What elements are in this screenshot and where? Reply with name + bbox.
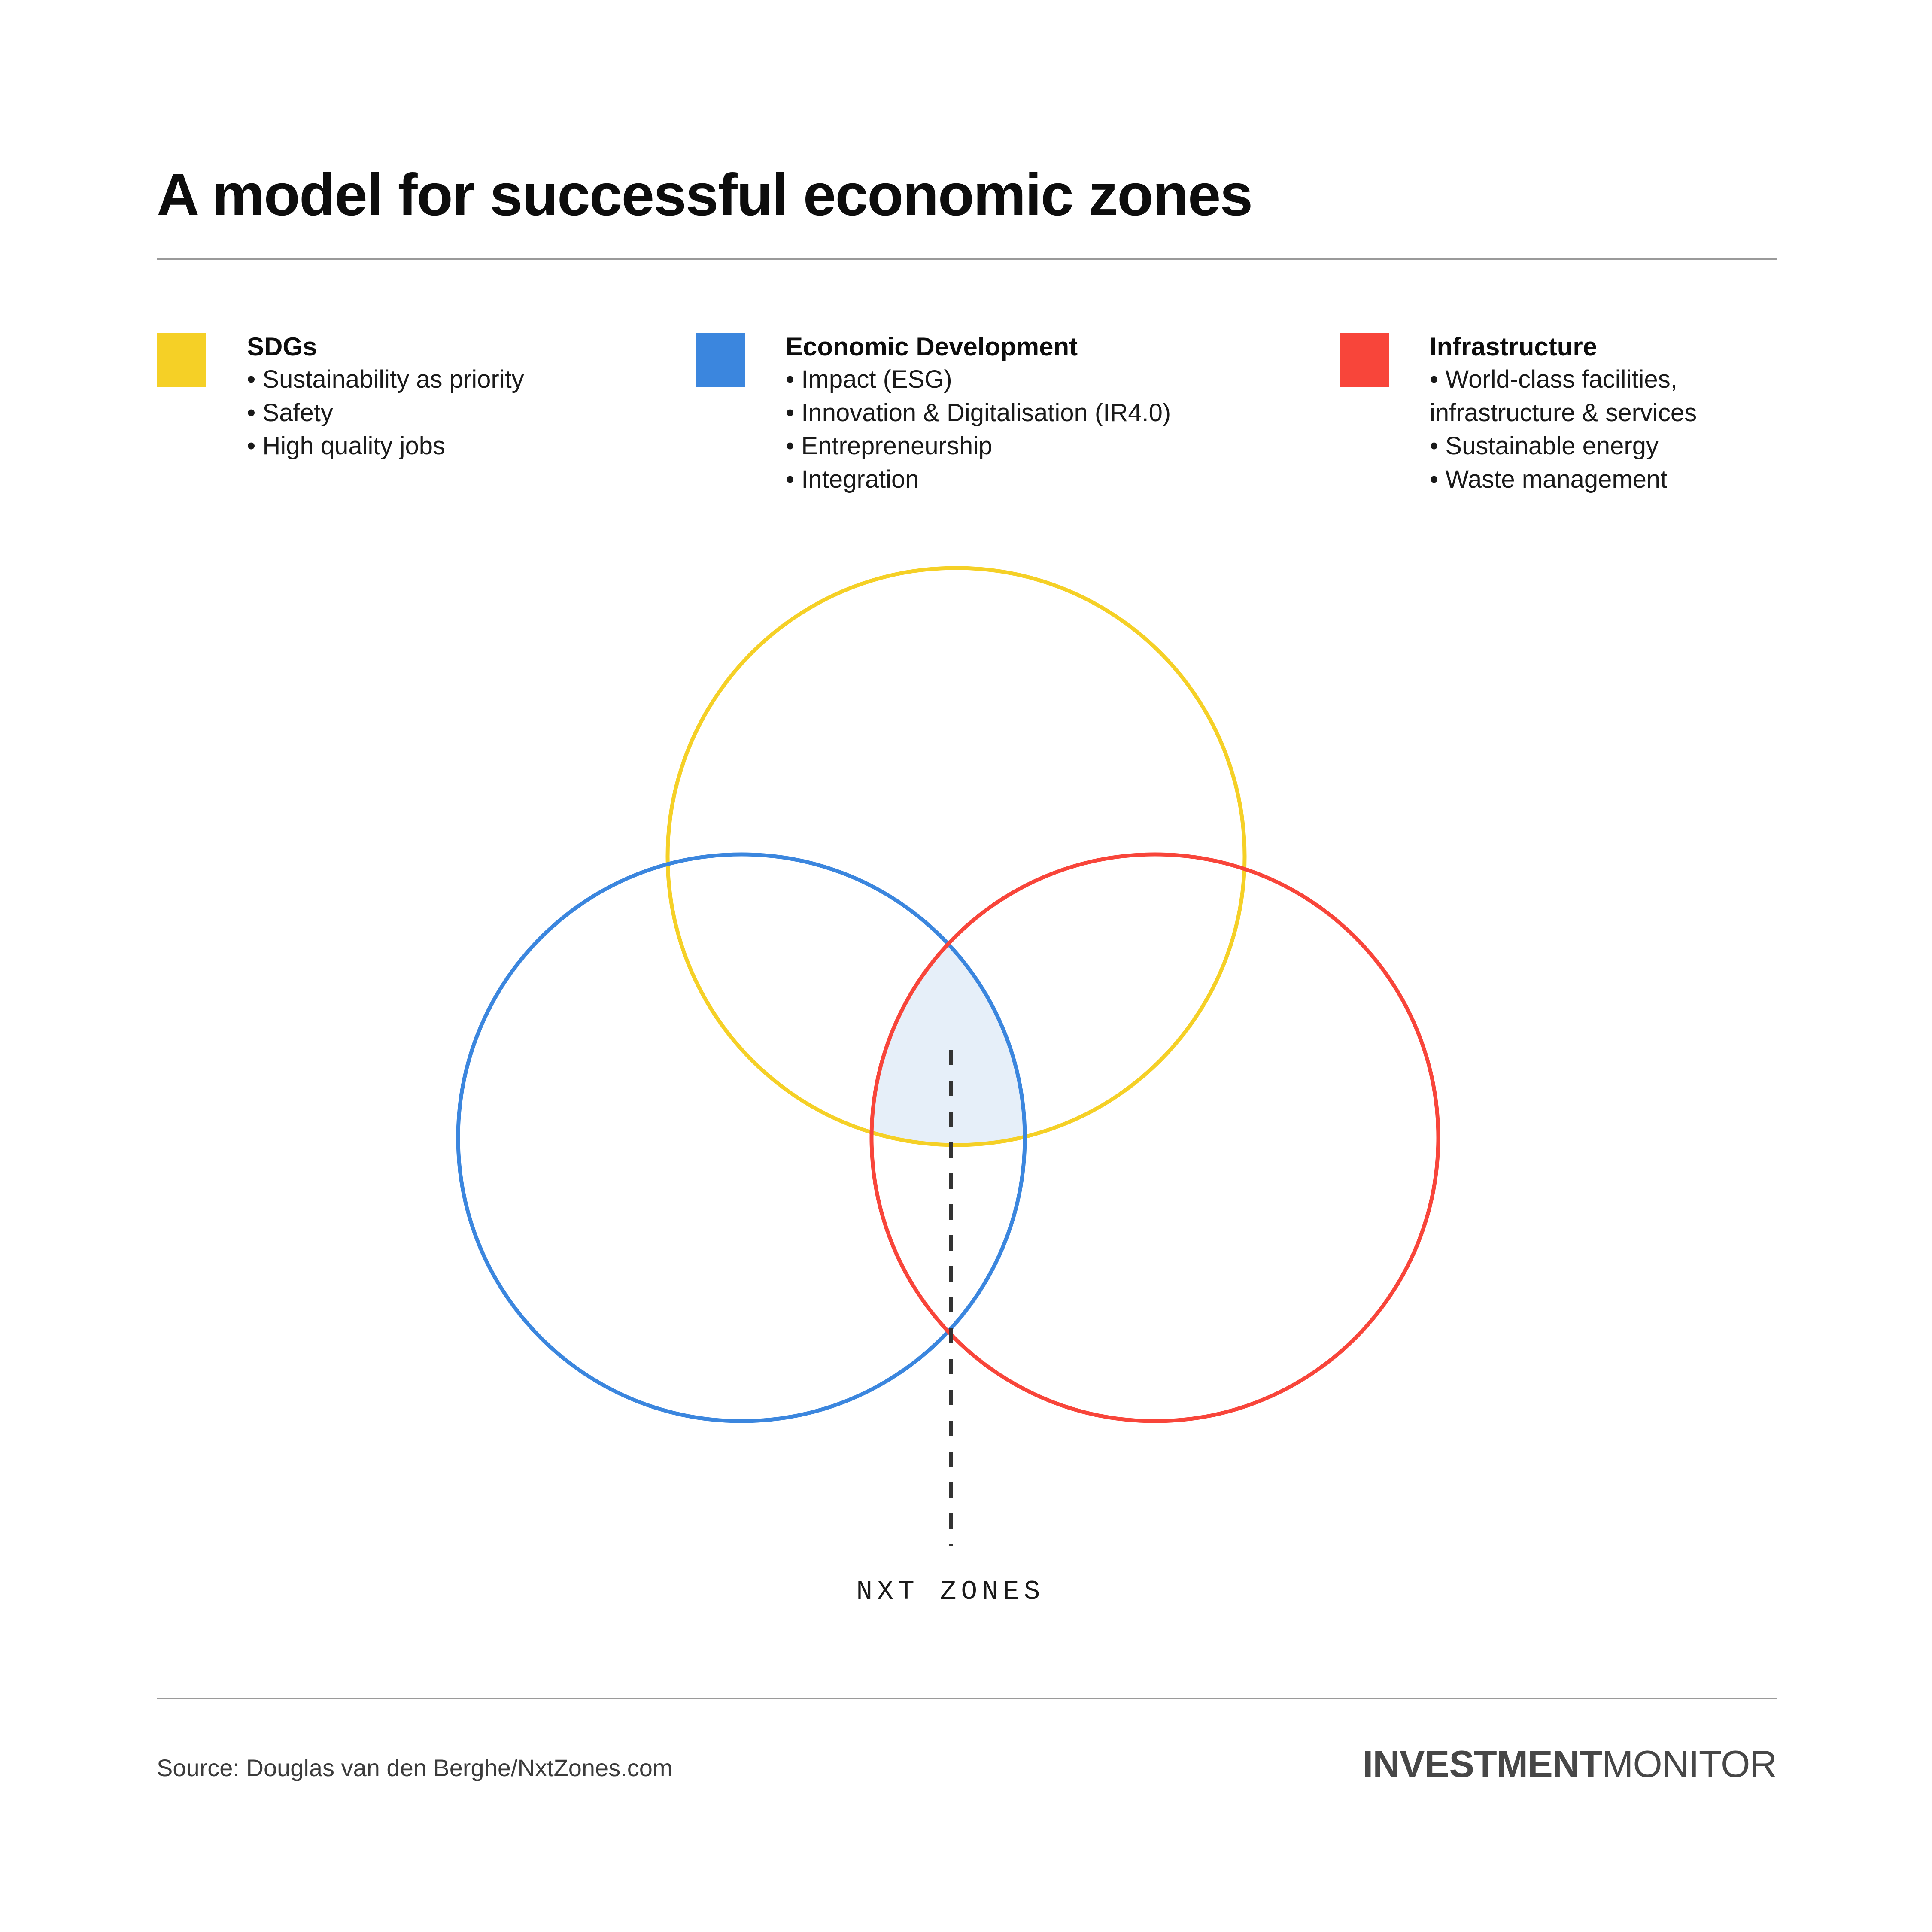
brand-logo-investment: INVESTMENT xyxy=(1363,1743,1602,1785)
list-item: Impact (ESG) xyxy=(786,363,1171,396)
list-item: Safety xyxy=(247,396,524,430)
venn-circle-sdgs xyxy=(668,568,1245,1145)
legend-text-economic-development: Economic Development Impact (ESG) Innova… xyxy=(786,331,1171,496)
venn-svg xyxy=(0,0,1932,1932)
list-item: Waste management xyxy=(1430,463,1756,496)
brand-logo-monitor: MONITOR xyxy=(1602,1743,1777,1785)
legend-heading-sdgs: SDGs xyxy=(247,331,524,363)
legend-list-sdgs: Sustainability as priority Safety High q… xyxy=(247,363,524,463)
footer-divider xyxy=(157,1698,1777,1699)
legend-list-infrastructure: World-class facilities, infrastructure &… xyxy=(1430,363,1756,496)
list-item: Entrepreneurship xyxy=(786,429,1171,463)
page-title: A model for successful economic zones xyxy=(157,164,1252,226)
venn-circle-infrastructure xyxy=(872,854,1438,1421)
list-item: Sustainable energy xyxy=(1430,429,1756,463)
header-divider xyxy=(157,258,1777,260)
source-credit: Source: Douglas van den Berghe/NxtZones.… xyxy=(157,1754,673,1782)
list-item: Innovation & Digitalisation (IR4.0) xyxy=(786,396,1171,430)
legend-heading-economic-development: Economic Development xyxy=(786,331,1171,363)
list-item: Integration xyxy=(786,463,1171,496)
list-item: High quality jobs xyxy=(247,429,524,463)
brand-logo: INVESTMENTMONITOR xyxy=(1363,1742,1777,1786)
venn-diagram xyxy=(0,0,1932,1932)
list-item: Sustainability as priority xyxy=(247,363,524,396)
legend-text-sdgs: SDGs Sustainability as priority Safety H… xyxy=(247,331,524,463)
venn-circle-economic-development xyxy=(458,854,1025,1421)
legend-text-infrastructure: Infrastructure World-class facilities, i… xyxy=(1430,331,1756,496)
venn-callout-label: NXT ZONES xyxy=(0,1577,1906,1607)
legend: SDGs Sustainability as priority Safety H… xyxy=(157,331,1780,496)
legend-item-economic-development: Economic Development Impact (ESG) Innova… xyxy=(696,331,1340,496)
infographic-page: A model for successful economic zones SD… xyxy=(0,0,1932,1932)
venn-callout-label-text: NXT ZONES xyxy=(856,1577,1045,1607)
legend-swatch-economic-development xyxy=(696,333,745,387)
legend-heading-infrastructure: Infrastructure xyxy=(1430,331,1756,363)
legend-swatch-infrastructure xyxy=(1340,333,1389,387)
list-item: World-class facilities, infrastructure &… xyxy=(1430,363,1756,429)
legend-list-economic-development: Impact (ESG) Innovation & Digitalisation… xyxy=(786,363,1171,496)
legend-item-infrastructure: Infrastructure World-class facilities, i… xyxy=(1340,331,1777,496)
legend-item-sdgs: SDGs Sustainability as priority Safety H… xyxy=(157,331,696,463)
venn-intersection-fill xyxy=(0,0,1932,1932)
legend-swatch-sdgs xyxy=(157,333,206,387)
